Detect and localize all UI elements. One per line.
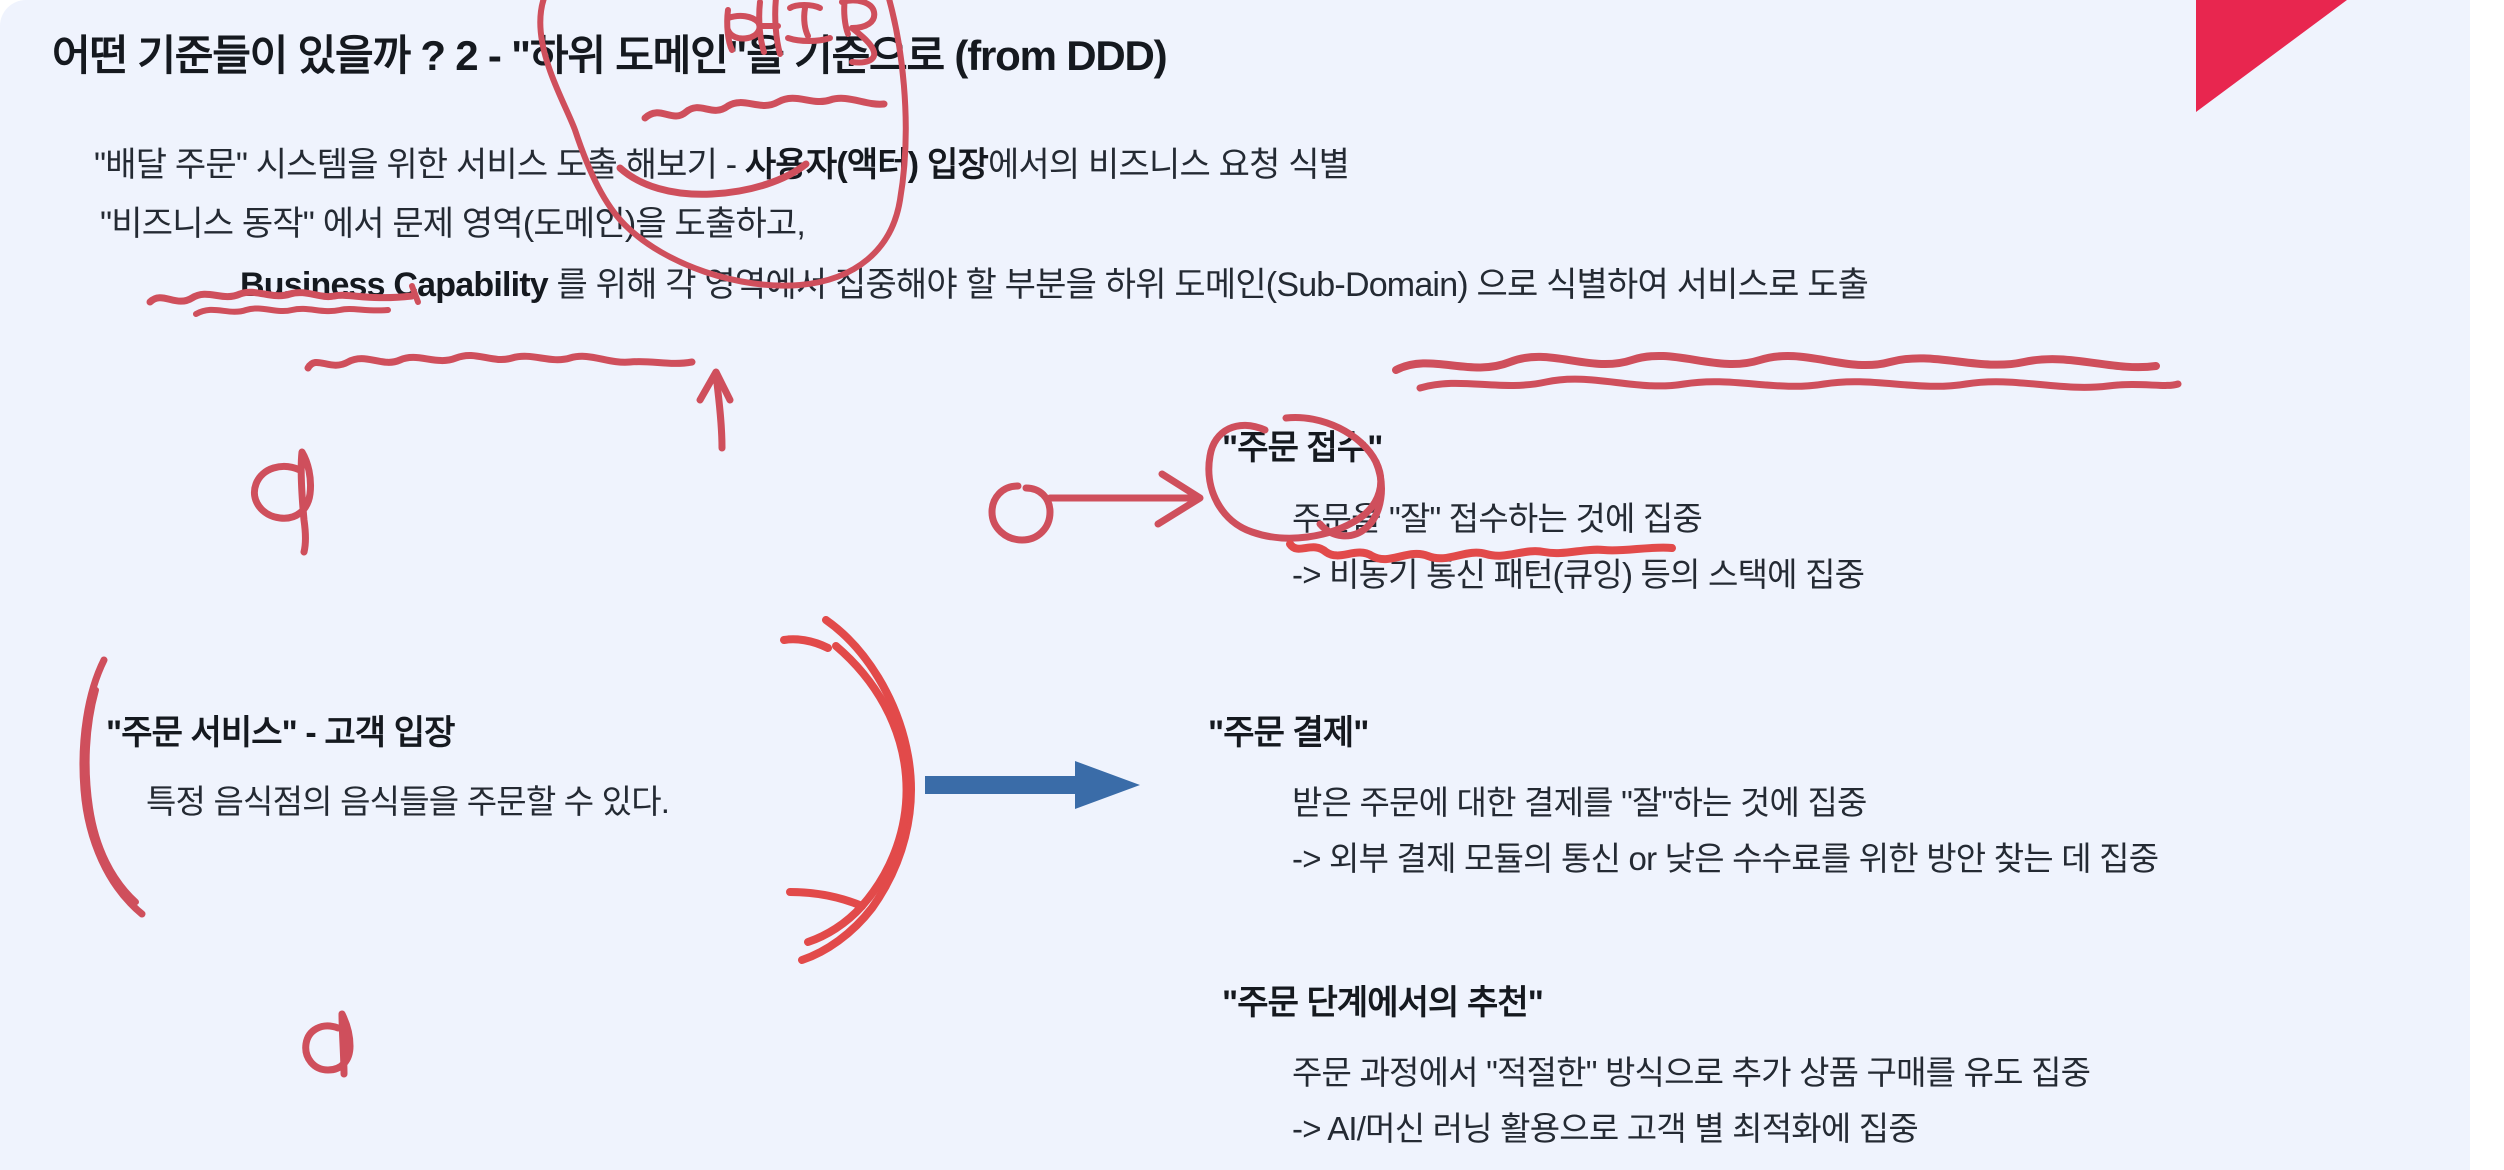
blue-arrow-shape bbox=[925, 757, 1140, 813]
order-recommend-detail-1: 주문 과정에서 "적절한" 방식으로 추가 상품 구매를 유도 집중 bbox=[1292, 1046, 2090, 1094]
intro-line-3: Business Capability 를 위해 각 영역에서 집중해야 할 부… bbox=[240, 257, 1868, 306]
group-heading-order-service: "주문 서비스" - 고객 입장 bbox=[106, 705, 454, 754]
intro-line-3-rest: 를 위해 각 영역에서 집중해야 할 부분을 하위 도메인(Sub-Domain… bbox=[548, 266, 1868, 304]
corner-banner-triangle bbox=[2196, 0, 2504, 112]
order-payment-detail-2: -> 외부 결제 모듈의 통신 or 낮은 수수료를 위한 방안 찾는 데 집중 bbox=[1292, 832, 2158, 880]
intro-line-1-prefix: "배달 주문" 시스템을 위한 서비스 도출 해보기 - bbox=[94, 146, 745, 184]
group-heading-order-payment: "주문 결제" bbox=[1208, 705, 1369, 754]
group-heading-order-recommend: "주문 단계에서의 추천" bbox=[1222, 975, 1543, 1024]
order-payment-detail-1: 받은 주문에 대한 결제를 "잘"하는 것에 집중 bbox=[1292, 776, 1867, 824]
order-service-detail-1: 특정 음식점의 음식들을 주문할 수 있다. bbox=[146, 775, 669, 823]
intro-line-1: "배달 주문" 시스템을 위한 서비스 도출 해보기 - 사용자(액터) 입장에… bbox=[94, 137, 1349, 186]
order-accept-detail-1: 주문을 "잘" 접수하는 것에 집중 bbox=[1292, 492, 1702, 540]
page-title: 어떤 기준들이 있을까 ? 2 - "하위 도메인"을 기준으로 (from D… bbox=[52, 22, 1166, 83]
intro-line-2: "비즈니스 동작" 에서 문제 영역(도메인)을 도출하고, bbox=[100, 196, 805, 245]
intro-line-1-bold: 사용자(액터) 입장 bbox=[745, 146, 988, 184]
intro-line-1-suffix: 에서의 비즈니스 요청 식별 bbox=[988, 146, 1349, 184]
order-accept-detail-2: -> 비동기 통신 패턴(큐잉) 등의 스택에 집중 bbox=[1292, 548, 1864, 596]
business-capability-term: Business Capability bbox=[240, 266, 548, 304]
corner-banner: Capability) 를 기준 으로 서비스를 정의하 는일 bbox=[2196, 0, 2504, 112]
slide-root: Capability) 를 기준 으로 서비스를 정의하 는일 어떤 기준들이 … bbox=[0, 0, 2504, 1170]
group-heading-order-accept: "주문 접수" bbox=[1222, 420, 1383, 469]
order-recommend-detail-2: -> AI/머신 러닝 활용으로 고객 별 최적화에 집중 bbox=[1292, 1102, 1918, 1150]
